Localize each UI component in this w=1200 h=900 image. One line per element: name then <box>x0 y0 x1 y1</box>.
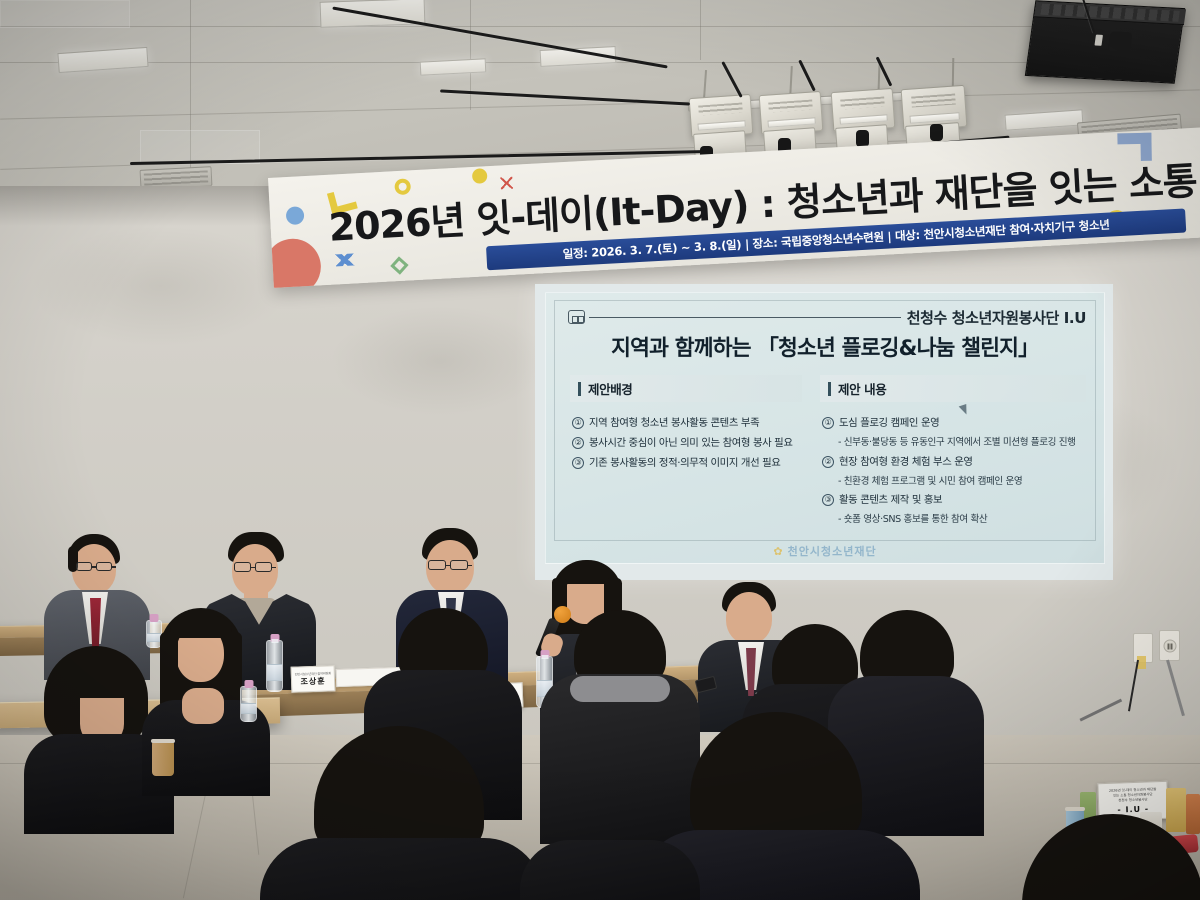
decor-shape-circle <box>472 168 488 184</box>
sub-bullet-text: - 친환경 체험 프로그램 및 시민 참여 캠페인 운영 <box>838 475 1086 488</box>
decor-shape-semicircle <box>268 237 322 288</box>
nameplate-name: 조상훈 <box>300 676 325 688</box>
glasses <box>450 560 468 570</box>
bullet-number: ③ <box>822 494 834 506</box>
bullet-number: ① <box>822 417 834 429</box>
ceiling-light-panel <box>420 58 487 75</box>
hood-collar <box>570 676 670 702</box>
bullet-list: ① 지역 참여형 청소년 봉사활동 콘텐츠 부족 ② 봉사시간 중심이 아닌 의… <box>570 416 802 471</box>
decor-shape-diamond <box>390 256 408 274</box>
slide-columns: 제안배경 ① 지역 참여형 청소년 봉사활동 콘텐츠 부족 ② 봉사시간 중심이… <box>570 375 1086 532</box>
sign-line: 천청수 청소년봉사단 <box>1118 798 1147 804</box>
document-icon <box>568 310 585 324</box>
drink-cup <box>152 742 174 776</box>
bullet-text: 지역 참여형 청소년 봉사활동 콘텐츠 부족 <box>589 416 759 431</box>
bullet-text: 현장 참여형 환경 체험 부스 운영 <box>839 455 973 470</box>
list-item: ① 지역 참여형 청소년 봉사활동 콘텐츠 부족 <box>572 416 802 431</box>
column-heading: 제안배경 <box>570 375 802 402</box>
slide-header: 천청수 청소년자원봉사단 I.U <box>568 307 1086 327</box>
heading-accent-bar <box>578 382 581 396</box>
wall-outlet[interactable] <box>1159 630 1180 661</box>
slide-footer-logo: ✿천안시청소년재단 <box>546 543 1104 559</box>
list-item: ② 현장 참여형 환경 체험 부스 운영 <box>822 455 1086 470</box>
audience-member-10 <box>520 840 700 900</box>
glasses <box>234 562 251 572</box>
nameplate: 천안시청소년재단 참여위원회 조상훈 <box>291 665 336 693</box>
bullet-list: ① 도심 플로깅 캠페인 운영 - 신부동·불당동 등 유동인구 지역에서 조별… <box>820 416 1086 527</box>
power-cable <box>721 61 742 98</box>
audience-member-7 <box>286 726 516 900</box>
slide-org-label: 천청수 청소년자원봉사단 I.U <box>907 307 1086 328</box>
sub-bullet-text: - 신부동·불당동 등 유동인구 지역에서 조별 미션형 플로깅 진행 <box>838 436 1086 449</box>
glasses <box>96 562 112 571</box>
glasses <box>255 562 272 572</box>
wall-outlet[interactable] <box>1133 633 1153 663</box>
ceiling-speaker <box>1025 0 1185 83</box>
bullet-text: 도심 플로깅 캠페인 운영 <box>839 416 939 431</box>
sub-bullet-text: - 숏폼 영상·SNS 홍보를 통한 참여 확산 <box>838 513 1086 526</box>
ceiling-light-panel <box>1005 109 1084 130</box>
slide-header-rule <box>589 317 901 318</box>
hair <box>314 726 484 854</box>
power-cable <box>332 7 667 69</box>
hair-bang <box>170 616 232 638</box>
hair <box>1022 814 1200 900</box>
power-cable <box>440 89 690 105</box>
list-item: ③ 기존 봉사활동의 정적·의무적 이미지 개선 필요 <box>572 456 802 471</box>
list-item: ② 봉사시간 중심이 아닌 의미 있는 참여형 봉사 필요 <box>572 436 802 451</box>
glasses <box>76 562 92 571</box>
logo-mark: ✿ <box>773 545 783 558</box>
conference-room-scene: 2026년 잇-데이(It-Day) : 청소년과 재단을 잇는 소통 일정: … <box>0 0 1200 900</box>
water-bottle <box>266 640 283 692</box>
clasped-hands <box>182 688 224 724</box>
ceiling-light-panel <box>57 47 148 73</box>
column-heading: 제안 내용 <box>820 375 1086 402</box>
decor-shape-circle <box>286 206 305 225</box>
list-item: ① 도심 플로깅 캠페인 운영 <box>822 416 1086 431</box>
hair <box>690 712 862 844</box>
power-cable <box>798 60 816 92</box>
heading-accent-bar <box>828 382 831 396</box>
bullet-text: 활동 콘텐츠 제작 및 홍보 <box>839 493 942 508</box>
bullet-number: ② <box>822 456 834 468</box>
audience-member-9 <box>1008 814 1200 900</box>
slide-column-background: 제안배경 ① 지역 참여형 청소년 봉사활동 콘텐츠 부족 ② 봉사시간 중심이… <box>570 375 802 532</box>
bullet-text: 봉사시간 중심이 아닌 의미 있는 참여형 봉사 필요 <box>589 436 793 451</box>
decor-shape-zigzag <box>320 253 367 267</box>
slide-footer-label: 천안시청소년재단 <box>788 545 877 558</box>
bullet-number: ③ <box>572 457 584 469</box>
torso <box>520 840 700 900</box>
presentation-slide: 천청수 청소년자원봉사단 I.U 지역과 함께하는 「청소년 플로깅&나눔 챌린… <box>545 292 1105 564</box>
slide-column-content: 제안 내용 ① 도심 플로깅 캠페인 운영 - 신부동·불당동 등 유동인구 지… <box>820 375 1086 532</box>
column-heading-label: 제안 내용 <box>838 379 886 398</box>
list-item: ③ 활동 콘텐츠 제작 및 홍보 <box>822 493 1086 508</box>
torso <box>260 838 544 900</box>
glasses <box>428 560 446 570</box>
bullet-number: ① <box>572 417 584 429</box>
column-heading-label: 제안배경 <box>588 379 632 398</box>
bullet-text: 기존 봉사활동의 정적·의무적 이미지 개선 필요 <box>589 456 780 471</box>
bullet-number: ② <box>572 437 584 449</box>
slide-title: 지역과 함께하는 「청소년 플로깅&나눔 챌린지」 <box>546 331 1104 362</box>
water-bottle <box>240 686 257 722</box>
